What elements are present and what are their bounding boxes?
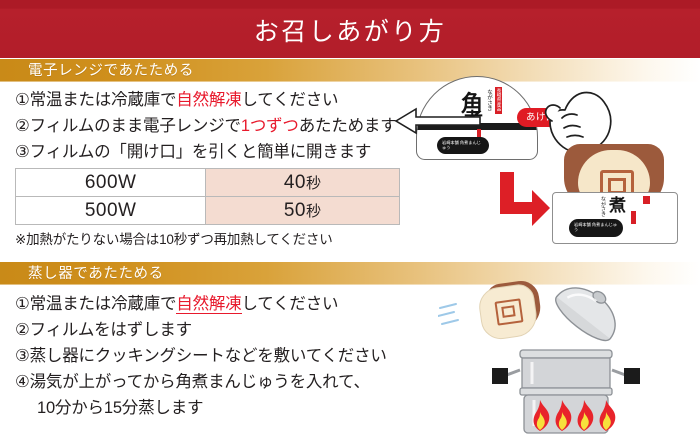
- package-red-strip: 長崎県産品: [495, 87, 502, 114]
- time-value: 40: [284, 172, 306, 193]
- step-text: あたためます: [299, 117, 397, 135]
- list-item: ①常温または冷蔵庫で自然解凍してください: [15, 291, 387, 317]
- list-item: ①常温または冷蔵庫で自然解凍してください: [15, 87, 397, 113]
- step-text: 蒸し器にクッキングシートなどを敷いてください: [30, 347, 387, 365]
- microwave-illustration: ながさき 角 煮 長崎県産品 岩崎本舗 角煮まんじゅう あけ口: [404, 66, 700, 256]
- page-title: お召しあがり方: [0, 20, 700, 45]
- bun-icon: [478, 280, 546, 340]
- step-number: ④: [15, 373, 30, 391]
- opened-product-icon: ながさき 煮 岩崎本舗 角煮まんじゅう: [552, 144, 678, 244]
- power-cell: 600W: [16, 169, 206, 197]
- package-vertical-text: ながさき: [483, 89, 492, 111]
- microwave-steps: ①常温または冷蔵庫で自然解凍してください ②フィルムのまま電子レンジで1つずつあ…: [15, 87, 397, 165]
- step-text-highlight: 1つずつ: [241, 117, 299, 135]
- product-card-red-strip: [631, 211, 636, 224]
- product-card-red-mark: [643, 196, 650, 204]
- time-value: 50: [284, 200, 306, 221]
- step-number: ②: [15, 321, 30, 339]
- time-unit: 秒: [306, 203, 322, 220]
- header-banner: お召しあがり方: [0, 0, 700, 58]
- step-number: ①: [15, 295, 30, 313]
- package-red-strip-text: 長崎県産品: [495, 88, 502, 111]
- package-brand-text: 岩崎本舗 角煮まんじゅう: [442, 140, 485, 150]
- power-cell: 500W: [16, 197, 206, 225]
- step-number: ③: [15, 143, 30, 161]
- list-item: ③フィルムの「開け口」を引くと簡単に開きます: [15, 139, 397, 165]
- step-text-highlight: 自然解凍: [176, 295, 241, 314]
- product-card-brand-pill: 岩崎本舗 角煮まんじゅう: [569, 219, 623, 237]
- time-cell: 50秒: [206, 197, 400, 225]
- step-text: フィルムをはずします: [30, 321, 192, 339]
- time-cell: 40秒: [206, 169, 400, 197]
- infographic-page: お召しあがり方 電子レンジであたためる ①常温または冷蔵庫で自然解凍してください…: [0, 0, 700, 435]
- step-text-highlight: 自然解凍: [176, 91, 241, 109]
- bun-stamp-icon: [494, 298, 523, 325]
- step-number: ③: [15, 347, 30, 365]
- step-number: ①: [15, 91, 30, 109]
- section-title-microwave: 電子レンジであたためる: [28, 64, 194, 79]
- table-row: 600W 40秒: [16, 169, 400, 197]
- steamer-steps: ①常温または冷蔵庫で自然解凍してください ②フィルムをはずします ③蒸し器にクッ…: [15, 291, 387, 421]
- steam-lines-icon: [438, 302, 472, 328]
- step-text: フィルムのまま電子レンジで: [30, 117, 241, 135]
- step-text: してください: [242, 295, 339, 313]
- product-card-vertical-text: ながさき: [597, 196, 606, 217]
- step-text: フィルムの「開け口」を引くと簡単に開きます: [30, 143, 372, 161]
- package-brand-pill: 岩崎本舗 角煮まんじゅう: [437, 137, 489, 154]
- flame-icons: [530, 400, 616, 432]
- list-item: ④湯気が上がってから角煮まんじゅうを入れて、: [15, 369, 387, 395]
- list-item-continuation: 10分から15分蒸します: [15, 395, 387, 421]
- table-row: 500W 50秒: [16, 197, 400, 225]
- step-text: 湯気が上がってから角煮まんじゅうを入れて、: [30, 373, 370, 391]
- pull-direction-arrow-icon: [394, 106, 482, 136]
- time-unit: 秒: [306, 175, 322, 192]
- step-number: ②: [15, 117, 30, 135]
- wattage-table: 600W 40秒 500W 50秒: [15, 168, 400, 225]
- process-arrow-icon: [496, 170, 552, 226]
- step-text: 常温または冷蔵庫で: [30, 295, 177, 313]
- list-item: ②フィルムをはずします: [15, 317, 387, 343]
- step-text: してください: [242, 91, 339, 109]
- reheat-note: ※加熱がたりない場合は10秒ずつ再加熱してください: [15, 228, 333, 248]
- step-text: 常温または冷蔵庫で: [30, 91, 177, 109]
- list-item: ②フィルムのまま電子レンジで1つずつあたためます: [15, 113, 397, 139]
- section-title-steamer: 蒸し器であたためる: [28, 267, 164, 282]
- list-item: ③蒸し器にクッキングシートなどを敷いてください: [15, 343, 387, 369]
- steamer-illustration: [430, 276, 700, 435]
- product-card-brand-text: 岩崎本舗 角煮まんじゅう: [574, 222, 619, 232]
- product-card-kanji: 煮: [609, 197, 626, 214]
- step-text: 10分から15分蒸します: [37, 399, 203, 417]
- product-label-card: ながさき 煮 岩崎本舗 角煮まんじゅう: [552, 192, 678, 244]
